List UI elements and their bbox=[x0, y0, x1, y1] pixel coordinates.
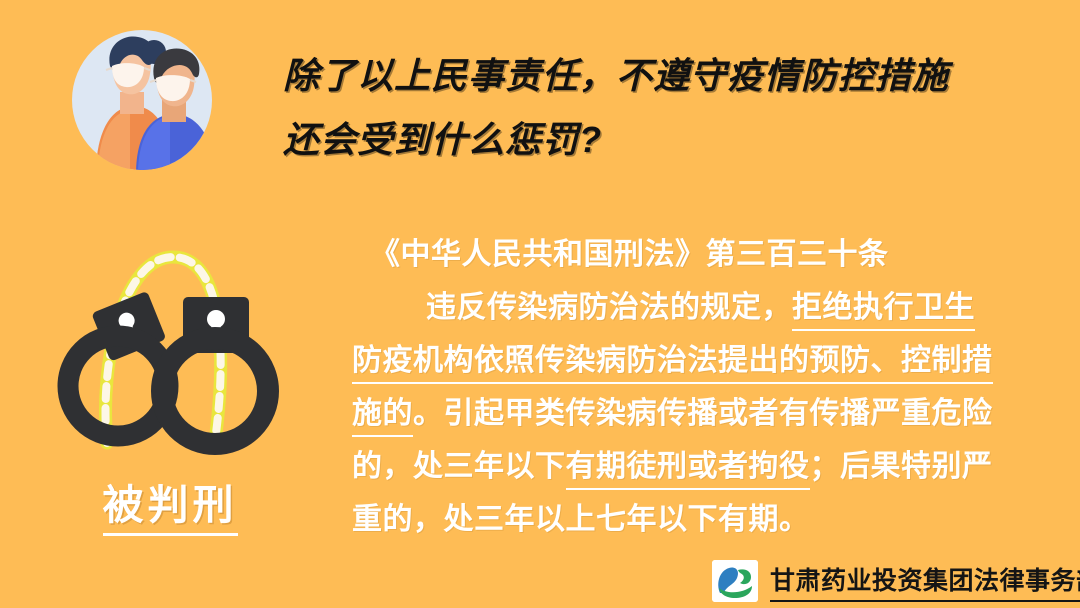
law-title-text: 《中华人民共和国刑法》第三百三十条 bbox=[370, 238, 889, 271]
law-line-5: 重的，处三年以上七年以下有期。 bbox=[352, 493, 1052, 546]
law-text-block: 《中华人民共和国刑法》第三百三十条 违反传染病防治法的规定，拒绝执行卫生 防疫机… bbox=[352, 228, 1052, 546]
law-line-2: 防疫机构依照传染病防治法提出的预防、控制措 bbox=[352, 334, 1052, 387]
company-logo-svg bbox=[712, 560, 758, 602]
law-line-3: 施的。引起甲类传染病传播或者有传播严重危险 bbox=[352, 387, 1052, 440]
company-leaf-logo-icon bbox=[712, 560, 758, 602]
law-line-1: 违反传染病防治法的规定，拒绝执行卫生 bbox=[352, 281, 1052, 334]
two-masked-people-icon bbox=[68, 26, 216, 174]
poster-canvas: 除了以上民事责任，不遵守疫情防控措施 还会受到什么惩罚? bbox=[0, 0, 1080, 608]
law-line-1-underlined: 拒绝执行卫生 bbox=[792, 291, 975, 331]
handcuffs-svg bbox=[45, 243, 295, 473]
footer-organization-name: 甘肃药业投资集团法律事务部 bbox=[770, 561, 1080, 602]
law-line-3-plain: 。引起甲类传染病传播或者有传播严重危险 bbox=[413, 397, 993, 430]
law-title-line: 《中华人民共和国刑法》第三百三十条 bbox=[352, 228, 1052, 281]
law-line-4-plain-b: ；后果特别严 bbox=[810, 450, 993, 483]
handcuffs-icon bbox=[45, 243, 295, 473]
law-line-5-plain: 重的，处三年以上七年以下有期。 bbox=[352, 503, 810, 536]
page-title: 除了以上民事责任，不遵守疫情防控措施 还会受到什么惩罚? bbox=[283, 44, 983, 172]
heading-line-2: 还会受到什么惩罚? bbox=[283, 108, 983, 172]
law-line-4: 的，处三年以下有期徒刑或者拘役；后果特别严 bbox=[352, 440, 1052, 493]
penalty-label-text: 被判刑 bbox=[103, 482, 238, 536]
law-line-1-plain: 违反传染病防治法的规定， bbox=[426, 291, 792, 324]
people-illustration-svg bbox=[68, 26, 216, 174]
law-line-4-plain-a: 的，处三年以下 bbox=[352, 450, 566, 483]
footer-branding: 甘肃药业投资集团法律事务部 bbox=[712, 560, 1080, 602]
law-line-4-underlined: 有期徒刑或者拘役 bbox=[566, 450, 810, 490]
penalty-label: 被判刑 bbox=[45, 471, 295, 531]
penalty-illustration-block: 被判刑 bbox=[45, 243, 295, 543]
law-line-3-underlined: 施的 bbox=[352, 397, 413, 437]
heading-line-1: 除了以上民事责任，不遵守疫情防控措施 bbox=[283, 44, 983, 108]
law-line-2-underlined: 防疫机构依照传染病防治法提出的预防、控制措 bbox=[352, 344, 993, 384]
